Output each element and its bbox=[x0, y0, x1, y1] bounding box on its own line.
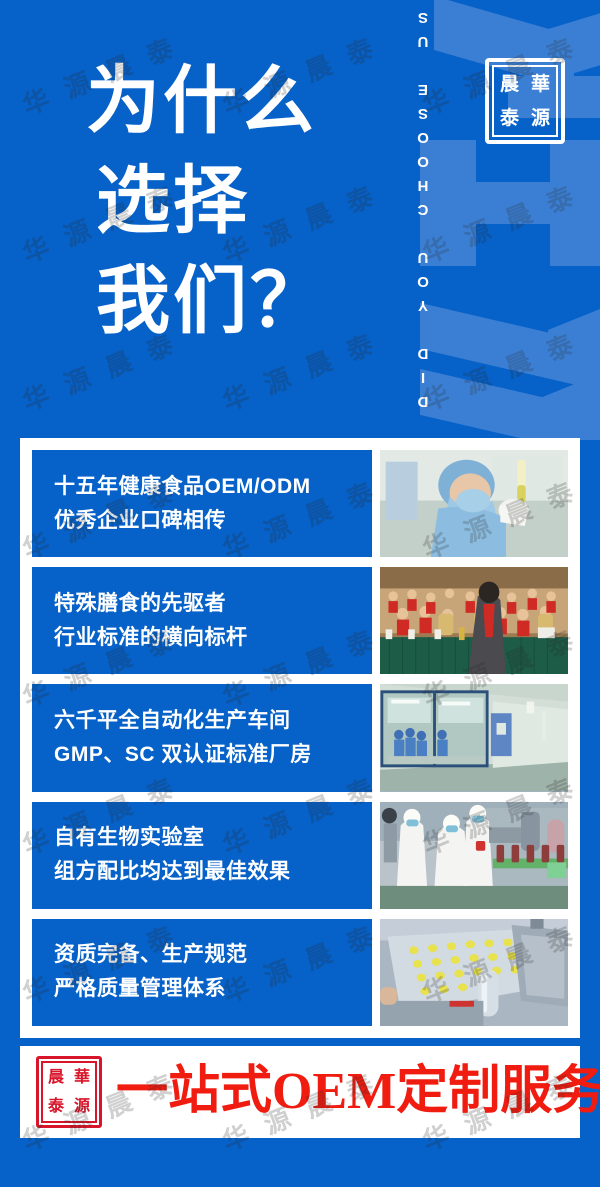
seal-char-bottom-left: 源 bbox=[525, 101, 556, 135]
feature-row: 资质完备、生产规范 严格质量管理体系 bbox=[32, 919, 568, 1026]
lab-technician-pipetting-photo bbox=[380, 450, 568, 557]
feature-line-1: 特殊膳食的先驱者 bbox=[54, 587, 372, 621]
poster-canvas: 为什么 选择 我们？ DID YOU CHOOSE US 華 晨 源 泰 十五年… bbox=[0, 0, 600, 1187]
brand-seal-red: 華 晨 源 泰 bbox=[36, 1056, 102, 1128]
poster-headline: 为什么 选择 我们？ bbox=[86, 52, 386, 352]
feature-text-block: 特殊膳食的先驱者 行业标准的横向标杆 bbox=[32, 567, 372, 674]
seal-char-bottom-right: 泰 bbox=[494, 101, 525, 135]
cleanroom-corridor-photo bbox=[380, 684, 568, 791]
feature-line-2: 行业标准的横向标杆 bbox=[54, 621, 372, 655]
seal-char-top-right: 晨 bbox=[494, 67, 525, 101]
feature-line-2: 严格质量管理体系 bbox=[54, 972, 372, 1006]
letter-w-stroke-3-icon bbox=[420, 362, 600, 440]
letter-h-bar-icon bbox=[420, 182, 600, 224]
feature-line-2: GMP、SC 双认证标准厂房 bbox=[54, 738, 372, 772]
feature-row: 十五年健康食品OEM/ODM 优秀企业口碑相传 bbox=[32, 450, 568, 557]
feature-line-1: 十五年健康食品OEM/ODM bbox=[54, 470, 372, 504]
seal-char-bottom-right: 泰 bbox=[43, 1092, 69, 1121]
seal-char-bottom-left: 源 bbox=[69, 1092, 95, 1121]
blister-packing-capsules-photo bbox=[380, 919, 568, 1026]
headline-line-2: 选择 bbox=[86, 152, 386, 252]
feature-text-block: 资质完备、生产规范 严格质量管理体系 bbox=[32, 919, 372, 1026]
feature-text-block: 自有生物实验室 组方配比均达到最佳效果 bbox=[32, 802, 372, 909]
feature-text-block: 十五年健康食品OEM/ODM 优秀企业口碑相传 bbox=[32, 450, 372, 557]
headline-line-3: 我们？ bbox=[86, 252, 386, 352]
letter-w-stroke-4-icon bbox=[540, 341, 600, 440]
headline-line-1: 为什么 bbox=[86, 52, 386, 152]
feature-line-1: 六千平全自动化生产车间 bbox=[54, 704, 372, 738]
conference-audience-photo bbox=[380, 567, 568, 674]
letter-w-stroke-2-icon bbox=[548, 277, 600, 376]
feature-line-2: 优秀企业口碑相传 bbox=[54, 504, 372, 538]
feature-text-block: 六千平全自动化生产车间 GMP、SC 双认证标准厂房 bbox=[32, 684, 372, 791]
letter-w-stroke-1-icon bbox=[420, 296, 600, 397]
production-line-workers-photo bbox=[380, 802, 568, 909]
feature-row: 特殊膳食的先驱者 行业标准的横向标杆 bbox=[32, 567, 568, 674]
vertical-english-caption: DID YOU CHOOSE US bbox=[408, 10, 438, 410]
feature-panel: 十五年健康食品OEM/ODM 优秀企业口碑相传 bbox=[20, 438, 580, 1038]
seal-char-top-right: 晨 bbox=[43, 1063, 69, 1092]
feature-line-1: 自有生物实验室 bbox=[54, 821, 372, 855]
seal-char-top-left: 華 bbox=[525, 67, 556, 101]
footer-slogan-text: 一站式OEM定制服务 bbox=[116, 1066, 600, 1118]
seal-char-top-left: 華 bbox=[69, 1063, 95, 1092]
brand-seal-white: 華 晨 源 泰 bbox=[485, 58, 565, 144]
feature-row: 六千平全自动化生产车间 GMP、SC 双认证标准厂房 bbox=[32, 684, 568, 791]
feature-line-2: 组方配比均达到最佳效果 bbox=[54, 855, 372, 889]
feature-row: 自有生物实验室 组方配比均达到最佳效果 bbox=[32, 802, 568, 909]
letter-h-right-icon bbox=[550, 140, 600, 266]
feature-line-1: 资质完备、生产规范 bbox=[54, 938, 372, 972]
footer-slogan-bar: 華 晨 源 泰 一站式OEM定制服务 bbox=[20, 1046, 580, 1138]
